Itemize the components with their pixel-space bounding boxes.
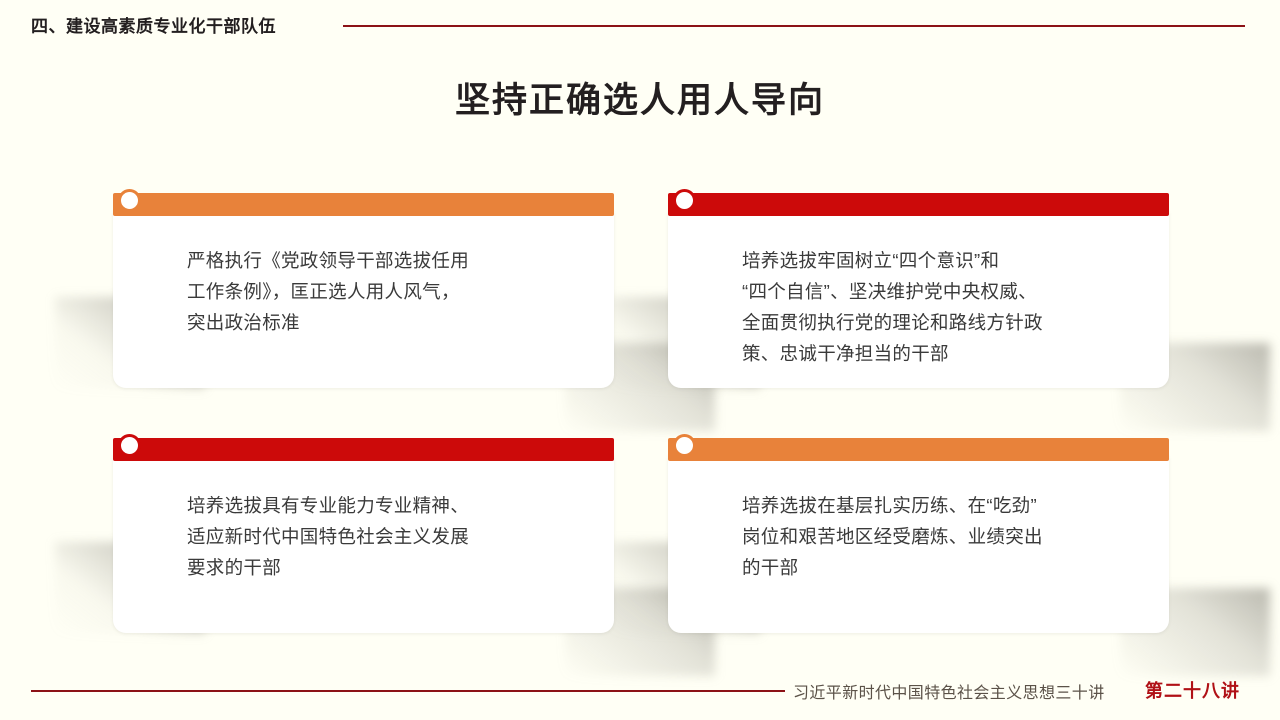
content-card[interactable]: 严格执行《党政领导干部选拔任用 工作条例》，匡正选人用人风气， 突出政治标准	[113, 193, 614, 388]
content-card[interactable]: 培养选拔牢固树立“四个意识”和 “四个自信”、坚决维护党中央权威、 全面贯彻执行…	[668, 193, 1169, 388]
slide-footer: 习近平新时代中国特色社会主义思想三十讲 第二十八讲	[0, 668, 1280, 720]
header-divider-line	[343, 25, 1245, 27]
card-bullet-dot-icon	[118, 189, 141, 212]
slide-canvas: 四、建设高素质专业化干部队伍 坚持正确选人用人导向 严格执行《党政领导干部选拔任…	[0, 0, 1280, 720]
card-bullet-dot-icon	[673, 189, 696, 212]
section-label: 四、建设高素质专业化干部队伍	[31, 12, 276, 37]
content-card[interactable]: 培养选拔具有专业能力专业精神、 适应新时代中国特色社会主义发展 要求的干部	[113, 438, 614, 633]
card-accent-bar	[113, 193, 614, 216]
content-card[interactable]: 培养选拔在基层扎实历练、在“吃劲” 岗位和艰苦地区经受磨炼、业绩突出 的干部	[668, 438, 1169, 633]
card-text: 严格执行《党政领导干部选拔任用 工作条例》，匡正选人用人风气， 突出政治标准	[187, 245, 587, 338]
card-text: 培养选拔牢固树立“四个意识”和 “四个自信”、坚决维护党中央权威、 全面贯彻执行…	[742, 245, 1142, 369]
card-grid: 严格执行《党政领导干部选拔任用 工作条例》，匡正选人用人风气， 突出政治标准 培…	[113, 193, 1170, 633]
card-accent-bar	[668, 438, 1169, 461]
card-accent-bar	[113, 438, 614, 461]
card-accent-bar	[668, 193, 1169, 216]
card-bullet-dot-icon	[118, 434, 141, 457]
page-title: 坚持正确选人用人导向	[0, 72, 1280, 123]
footer-source-label: 习近平新时代中国特色社会主义思想三十讲	[793, 679, 1105, 703]
slide-header: 四、建设高素质专业化干部队伍	[0, 0, 1280, 50]
footer-divider-line	[31, 690, 785, 692]
card-text: 培养选拔具有专业能力专业精神、 适应新时代中国特色社会主义发展 要求的干部	[187, 490, 587, 583]
footer-lecture-number: 第二十八讲	[1145, 677, 1240, 703]
card-bullet-dot-icon	[673, 434, 696, 457]
card-text: 培养选拔在基层扎实历练、在“吃劲” 岗位和艰苦地区经受磨炼、业绩突出 的干部	[742, 490, 1142, 583]
